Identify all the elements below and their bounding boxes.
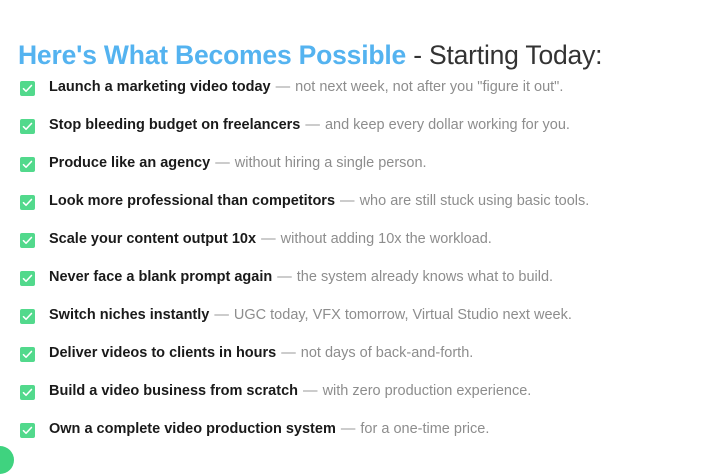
check-icon	[20, 81, 35, 96]
list-item: Stop bleeding budget on freelancers — an…	[0, 116, 706, 154]
list-item: Never face a blank prompt again — the sy…	[0, 268, 706, 306]
page-title-highlight: Here's What Becomes Possible	[18, 40, 406, 70]
list-item-detail: UGC today, VFX tomorrow, Virtual Studio …	[234, 307, 572, 323]
list-item-detail: not days of back-and-forth.	[301, 345, 474, 361]
check-icon	[20, 271, 35, 286]
page-title: Here's What Becomes Possible - Starting …	[18, 38, 602, 72]
list-item-detail: who are still stuck using basic tools.	[360, 193, 590, 209]
list-item-dash: —	[276, 269, 293, 285]
list-item-detail: and keep every dollar working for you.	[325, 117, 570, 133]
list-item-headline: Own a complete video production system	[49, 421, 336, 437]
check-icon	[20, 423, 35, 438]
list-item-detail: with zero production experience.	[323, 383, 532, 399]
list-item-dash: —	[280, 345, 297, 361]
list-item-headline: Launch a marketing video today	[49, 79, 271, 95]
list-item-dash: —	[260, 231, 277, 247]
check-icon	[20, 233, 35, 248]
list-item: Look more professional than competitors …	[0, 192, 706, 230]
list-item-headline: Never face a blank prompt again	[49, 269, 272, 285]
list-item-headline: Scale your content output 10x	[49, 231, 256, 247]
check-icon	[20, 385, 35, 400]
page-title-tail: - Starting Today:	[406, 40, 602, 70]
list-item: Switch niches instantly — UGC today, VFX…	[0, 306, 706, 344]
list-item-dash: —	[304, 117, 321, 133]
list-item-text: Switch niches instantly — UGC today, VFX…	[49, 306, 706, 325]
list-item-text: Scale your content output 10x — without …	[49, 230, 706, 249]
list-item-headline: Build a video business from scratch	[49, 383, 298, 399]
list-item-text: Own a complete video production system —…	[49, 420, 706, 439]
list-item-dash: —	[339, 193, 356, 209]
list-item-text: Deliver videos to clients in hours — not…	[49, 344, 706, 363]
list-item-headline: Stop bleeding budget on freelancers	[49, 117, 300, 133]
list-item-text: Build a video business from scratch — wi…	[49, 382, 706, 401]
list-item-detail: the system already knows what to build.	[297, 269, 553, 285]
list-item: Scale your content output 10x — without …	[0, 230, 706, 268]
list-item-dash: —	[213, 307, 230, 323]
check-icon	[20, 195, 35, 210]
list-item-headline: Deliver videos to clients in hours	[49, 345, 276, 361]
list-item: Deliver videos to clients in hours — not…	[0, 344, 706, 382]
list-item-text: Never face a blank prompt again — the sy…	[49, 268, 706, 287]
check-icon	[20, 157, 35, 172]
list-item-detail: not next week, not after you "figure it …	[295, 79, 563, 95]
list-item: Launch a marketing video today — not nex…	[0, 78, 706, 116]
list-item-headline: Switch niches instantly	[49, 307, 209, 323]
list-item-text: Produce like an agency — without hiring …	[49, 154, 706, 173]
benefits-checklist: Launch a marketing video today — not nex…	[0, 78, 706, 458]
list-item-text: Stop bleeding budget on freelancers — an…	[49, 116, 706, 135]
list-item-dash: —	[214, 155, 231, 171]
check-icon	[20, 347, 35, 362]
list-item-headline: Look more professional than competitors	[49, 193, 335, 209]
list-item-dash: —	[302, 383, 319, 399]
check-icon	[20, 309, 35, 324]
list-item: Build a video business from scratch — wi…	[0, 382, 706, 420]
list-item-detail: for a one-time price.	[360, 421, 489, 437]
benefits-section: Here's What Becomes Possible - Starting …	[0, 0, 706, 460]
list-item-dash: —	[275, 79, 292, 95]
list-item: Own a complete video production system —…	[0, 420, 706, 458]
check-icon	[20, 119, 35, 134]
list-item-text: Launch a marketing video today — not nex…	[49, 78, 706, 97]
list-item: Produce like an agency — without hiring …	[0, 154, 706, 192]
list-item-detail: without adding 10x the workload.	[281, 231, 492, 247]
list-item-dash: —	[340, 421, 357, 437]
list-item-headline: Produce like an agency	[49, 155, 210, 171]
list-item-text: Look more professional than competitors …	[49, 192, 706, 211]
list-item-detail: without hiring a single person.	[235, 155, 427, 171]
